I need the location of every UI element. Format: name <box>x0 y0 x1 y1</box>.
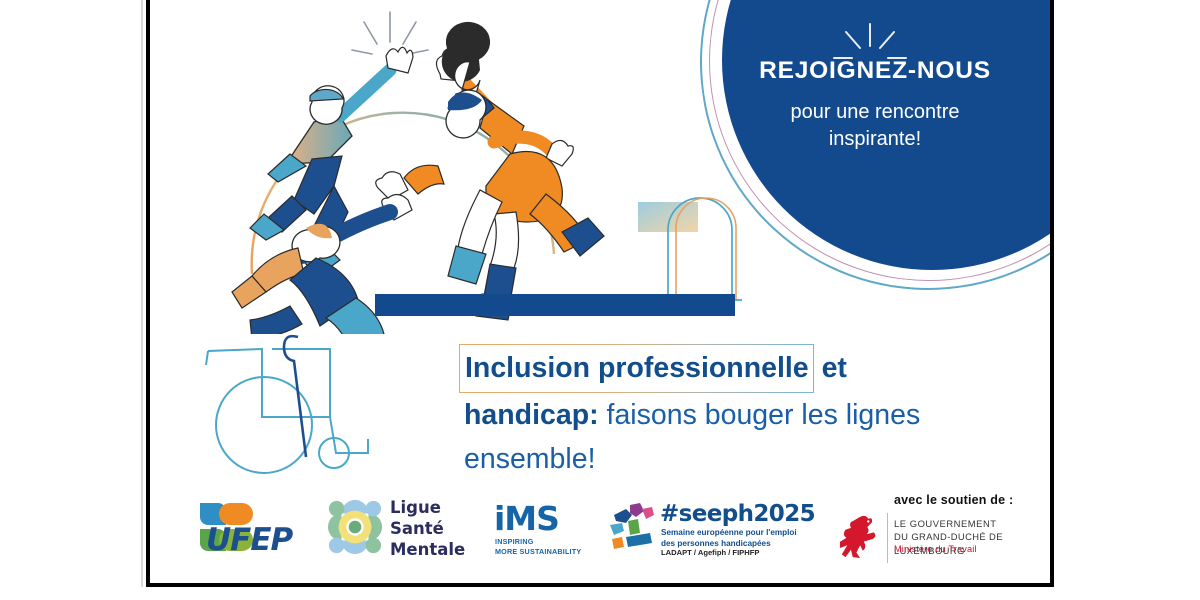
support-label: avec le soutien de : <box>894 493 1013 507</box>
support-divider <box>887 513 888 563</box>
headline-line3: ensemble! <box>464 443 596 475</box>
lsm-line1: Ligue <box>390 497 465 518</box>
colored-arrows-icon <box>606 499 658 551</box>
blue-bar-shape <box>375 294 735 316</box>
ims-tagline-line2: MORE SUSTAINABILITY <box>495 547 581 557</box>
ims-tagline-line1: INSPIRING <box>495 537 581 547</box>
ufep-logo[interactable]: UFEP <box>194 497 306 559</box>
ufep-wordmark: UFEP <box>206 522 292 558</box>
seeph2025-logo[interactable]: #seeph2025 Semaine européenne pour l'emp… <box>604 493 834 565</box>
people-reaching-illustration <box>194 4 614 334</box>
seeph-subtitle-line1: Semaine européenne pour l'emploi <box>661 527 797 538</box>
support-org-line1: LE GOUVERNEMENT <box>894 517 997 531</box>
headline: Inclusion professionnelle et handicap: f… <box>464 344 1024 482</box>
banner-text-block: REJOIGNEZ-NOUS pour une rencontre inspir… <box>714 58 1036 153</box>
banner-subtitle-line1: pour une rencontre <box>714 99 1036 126</box>
seeph-partners: LADAPT / Agefiph / FIPHFP <box>661 548 759 557</box>
sparkle-icon <box>352 12 428 54</box>
poster-root: REJOIGNEZ-NOUS pour une rencontre inspir… <box>0 0 1200 600</box>
luxembourg-red-lion-icon <box>840 513 882 561</box>
poster-frame: REJOIGNEZ-NOUS pour une rencontre inspir… <box>146 0 1054 587</box>
support-ministry: Ministère du Travail <box>894 544 977 554</box>
support-block: avec le soutien de : LE GOUVERNEMENT DU … <box>838 487 1048 569</box>
lsm-line3: Mentale <box>390 539 465 560</box>
headline-line2-rest: faisons bouger les lignes <box>599 399 921 431</box>
headline-handicap: handicap: <box>464 399 599 431</box>
left-rule <box>141 0 143 587</box>
mandala-icon <box>326 498 384 556</box>
banner-title: REJOIGNEZ-NOUS <box>714 58 1036 85</box>
ims-wordmark: iMS <box>494 499 559 538</box>
ims-logo[interactable]: iMS INSPIRING MORE SUSTAINABILITY <box>494 499 590 561</box>
logo-row: UFEP <box>166 487 1046 577</box>
wheelchair-line-icon <box>202 325 392 490</box>
ligue-sante-mentale-logo[interactable]: Ligue Santé Mentale <box>326 495 506 561</box>
banner-subtitle-line2: inspirante! <box>714 126 1036 153</box>
headline-et: et <box>814 352 847 384</box>
lsm-line2: Santé <box>390 518 465 539</box>
seeph-hashtag: #seeph2025 <box>660 501 815 527</box>
headline-highlight: Inclusion professionnelle <box>459 344 814 393</box>
